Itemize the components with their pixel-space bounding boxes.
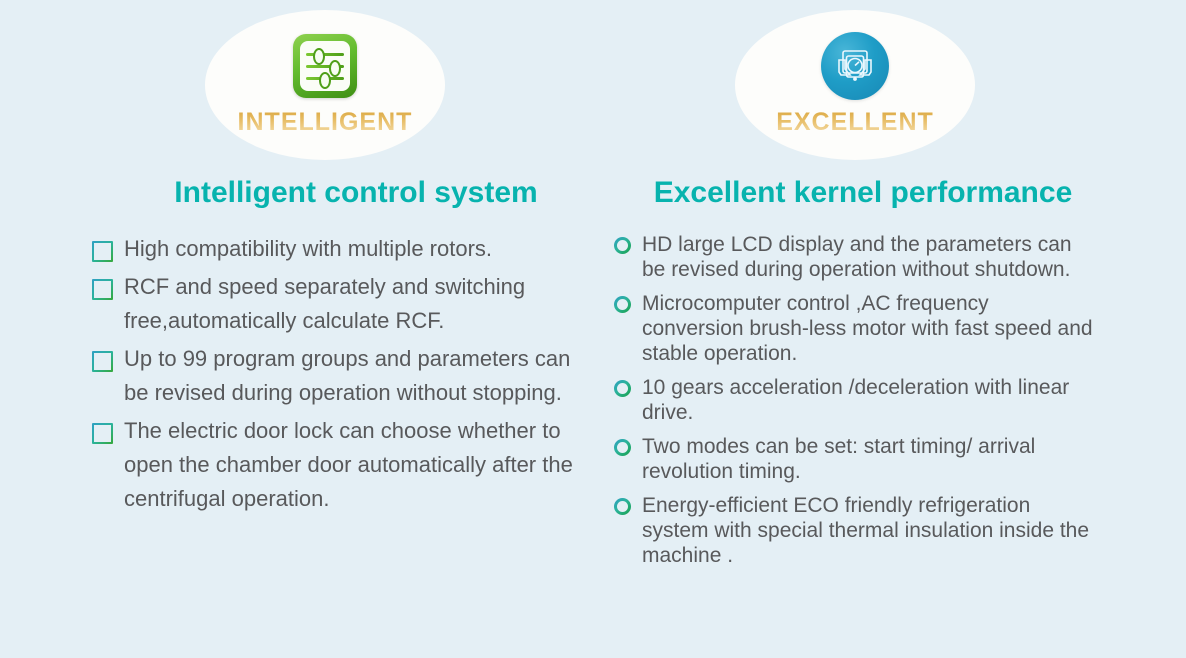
- badge-excellent: EXCELLENT: [735, 10, 975, 160]
- square-marker-icon: [92, 351, 113, 372]
- list-item-text: Up to 99 program groups and parameters c…: [124, 342, 592, 410]
- ring-marker-icon: [614, 498, 631, 515]
- list-item-text: The electric door lock can choose whethe…: [124, 414, 592, 516]
- ring-marker-icon: [614, 439, 631, 456]
- list-item-text: HD large LCD display and the parameters …: [642, 232, 1094, 282]
- list-item-text: Microcomputer control ,AC frequency conv…: [642, 291, 1094, 366]
- list-item: Up to 99 program groups and parameters c…: [92, 342, 592, 410]
- column-excellent-kernel-performance: Excellent kernel performance HD large LC…: [614, 176, 1094, 577]
- ring-marker-icon: [614, 237, 631, 254]
- column-intelligent-control-system: Intelligent control system High compatib…: [92, 176, 592, 520]
- square-marker-icon: [92, 279, 113, 300]
- list-item: The electric door lock can choose whethe…: [92, 414, 592, 516]
- gauge-icon: [817, 28, 893, 104]
- square-marker-icon: [92, 423, 113, 444]
- badge-intelligent: INTELLIGENT: [205, 10, 445, 160]
- ring-marker-icon: [614, 296, 631, 313]
- feature-panel: INTELLIGENT EXCELLENT: [0, 0, 1186, 658]
- list-item-text: High compatibility with multiple rotors.: [124, 232, 592, 266]
- list-item-text: Energy-efficient ECO friendly refrigerat…: [642, 493, 1094, 568]
- badge-word-excellent: EXCELLENT: [776, 108, 934, 137]
- heading-intelligent-control-system: Intelligent control system: [92, 176, 592, 210]
- list-item: Microcomputer control ,AC frequency conv…: [614, 291, 1094, 366]
- heading-excellent-kernel-performance: Excellent kernel performance: [614, 176, 1094, 210]
- list-item: Two modes can be set: start timing/ arri…: [614, 434, 1094, 484]
- list-item-text: Two modes can be set: start timing/ arri…: [642, 434, 1094, 484]
- feature-list-left: High compatibility with multiple rotors.…: [92, 232, 592, 516]
- list-item-text: 10 gears acceleration /deceleration with…: [642, 375, 1094, 425]
- square-marker-icon: [92, 241, 113, 262]
- list-item: High compatibility with multiple rotors.: [92, 232, 592, 266]
- ring-marker-icon: [614, 380, 631, 397]
- list-item: 10 gears acceleration /deceleration with…: [614, 375, 1094, 425]
- badge-word-intelligent: INTELLIGENT: [238, 108, 413, 137]
- list-item: Energy-efficient ECO friendly refrigerat…: [614, 493, 1094, 568]
- list-item: RCF and speed separately and switching f…: [92, 270, 592, 338]
- list-item: HD large LCD display and the parameters …: [614, 232, 1094, 282]
- sliders-icon: [287, 28, 363, 104]
- list-item-text: RCF and speed separately and switching f…: [124, 270, 592, 338]
- feature-list-right: HD large LCD display and the parameters …: [614, 232, 1094, 568]
